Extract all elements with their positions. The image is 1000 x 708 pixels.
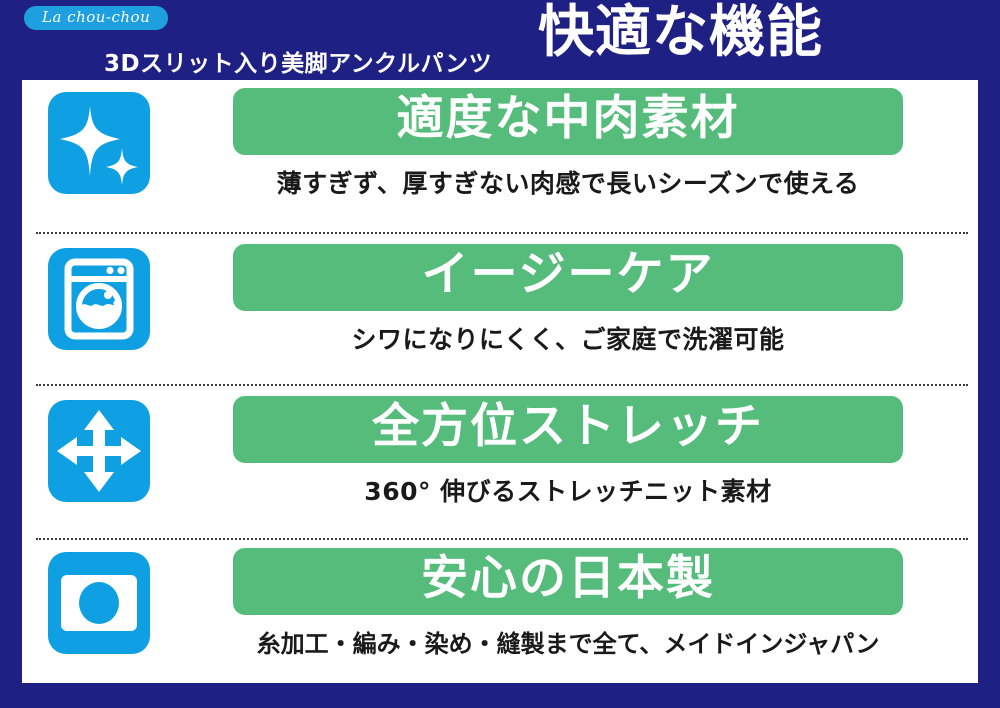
feature-row: 全方位ストレッチ 360° 伸びるストレッチニット素材 bbox=[22, 386, 978, 538]
feature-description: 360° 伸びるストレッチニット素材 bbox=[364, 472, 771, 508]
features-panel: 適度な中肉素材 薄すぎず、厚すぎない肉感で長いシーズンで使える イージーケア シ… bbox=[22, 80, 978, 683]
brand-badge: La chou-chou bbox=[24, 6, 168, 30]
feature-description: シワになりにくく、ご家庭で洗濯可能 bbox=[351, 320, 784, 356]
header-bar: La chou-chou 3Dスリット入り美脚アンクルパンツ 快適な機能 bbox=[0, 0, 1000, 80]
header-subtitle: 3Dスリット入り美脚アンクルパンツ bbox=[104, 44, 492, 78]
feature-row: 安心の日本製 糸加工・編み・染め・縫製まで全て、メイドインジャパン bbox=[22, 540, 978, 689]
feature-text: 安心の日本製 糸加工・編み・染め・縫製まで全て、メイドインジャパン bbox=[182, 548, 954, 659]
feature-row: 適度な中肉素材 薄すぎず、厚すぎない肉感で長いシーズンで使える bbox=[22, 80, 978, 232]
feature-title: イージーケア bbox=[233, 244, 903, 311]
page-title: 快適な機能 bbox=[538, 4, 823, 63]
japan-flag-icon bbox=[48, 552, 150, 654]
four-way-arrows-icon bbox=[48, 400, 150, 502]
feature-text: 全方位ストレッチ 360° 伸びるストレッチニット素材 bbox=[182, 396, 954, 508]
feature-title: 安心の日本製 bbox=[233, 548, 903, 615]
feature-text: イージーケア シワになりにくく、ご家庭で洗濯可能 bbox=[182, 244, 954, 356]
feature-description: 薄すぎず、厚すぎない肉感で長いシーズンで使える bbox=[277, 164, 860, 200]
feature-description: 糸加工・編み・染め・縫製まで全て、メイドインジャパン bbox=[257, 624, 880, 659]
feature-title: 適度な中肉素材 bbox=[233, 88, 903, 155]
feature-text: 適度な中肉素材 薄すぎず、厚すぎない肉感で長いシーズンで使える bbox=[182, 88, 954, 200]
feature-title: 全方位ストレッチ bbox=[233, 396, 903, 463]
washing-machine-icon bbox=[48, 248, 150, 350]
feature-row: イージーケア シワになりにくく、ご家庭で洗濯可能 bbox=[22, 234, 978, 384]
sparkle-icon bbox=[48, 92, 150, 194]
